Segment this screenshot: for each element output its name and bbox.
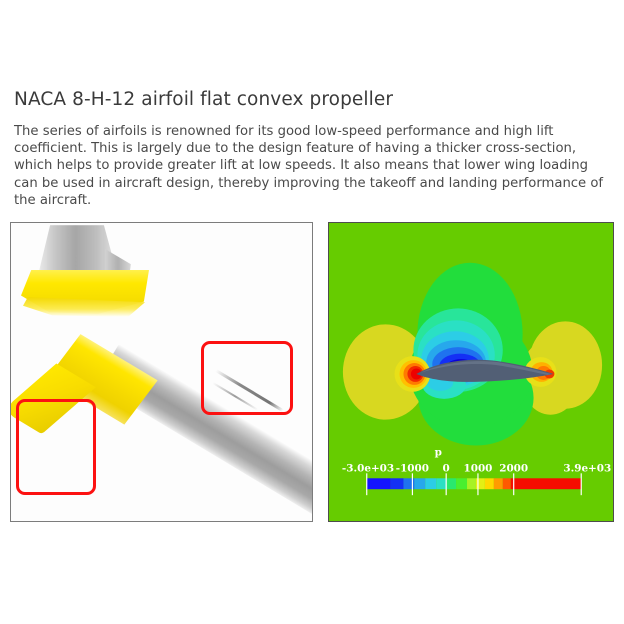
colorbar-swatches — [367, 478, 581, 489]
article-header: NACA 8-H-12 airfoil flat convex propelle… — [14, 88, 614, 209]
pressure-field-plot: p -3.0e+03 -1000 0 1000 2000 3.9e+03 — [329, 223, 613, 521]
colorbar-tick-label-neg1000: -1000 — [396, 462, 429, 474]
page-description: The series of airfoils is renowned for i… — [14, 123, 614, 209]
colorbar-tick-label-min: -3.0e+03 — [342, 462, 394, 474]
page-root: NACA 8-H-12 airfoil flat convex propelle… — [0, 0, 624, 624]
colorbar-tick-label-max: 3.9e+03 — [563, 462, 611, 474]
colorbar-tick-label-1000: 1000 — [463, 462, 492, 474]
page-title: NACA 8-H-12 airfoil flat convex propelle… — [14, 88, 614, 112]
annotation-rect-blade-seam — [201, 341, 293, 415]
propeller-photo-panel — [10, 222, 313, 522]
annotation-rect-blade-tip — [16, 399, 96, 495]
photo-canvas — [11, 223, 312, 521]
cfd-pressure-contour-panel: p -3.0e+03 -1000 0 1000 2000 3.9e+03 — [328, 222, 614, 522]
colorbar-variable-label: p — [435, 446, 442, 458]
colorbar-tick-label-2000: 2000 — [499, 462, 528, 474]
figure-row: p -3.0e+03 -1000 0 1000 2000 3.9e+03 — [10, 222, 614, 522]
colorbar-tick-label-zero: 0 — [443, 462, 450, 474]
